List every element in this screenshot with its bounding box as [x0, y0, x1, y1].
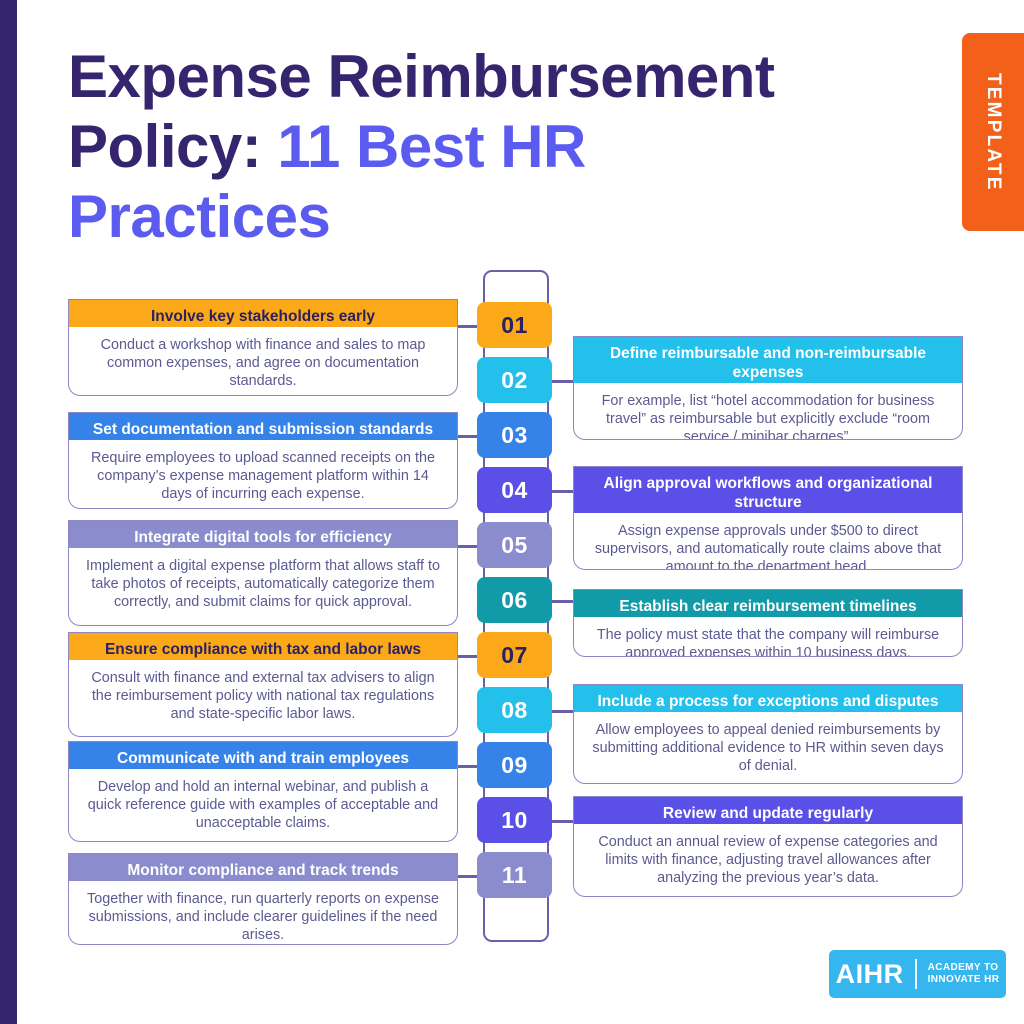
step-card-title: Align approval workflows and organizatio…: [574, 467, 962, 513]
step-number-badge[interactable]: 04: [477, 467, 552, 513]
step-card-body: Assign expense approvals under $500 to d…: [574, 513, 962, 570]
step-card-body: For example, list “hotel accommodation f…: [574, 383, 962, 440]
step-number-badge[interactable]: 09: [477, 742, 552, 788]
page-title: Expense Reimbursement Policy: 11 Best HR…: [68, 42, 908, 252]
step-card[interactable]: Ensure compliance with tax and labor law…: [68, 632, 458, 737]
step-card[interactable]: Set documentation and submission standar…: [68, 412, 458, 509]
template-tab[interactable]: TEMPLATE: [962, 33, 1024, 231]
step-card-body: Implement a digital expense platform tha…: [69, 548, 457, 621]
logo-wordmark: AIHR: [836, 959, 904, 990]
step-card-title: Involve key stakeholders early: [69, 300, 457, 327]
logo-tagline-line-2: INNOVATE HR: [928, 974, 1000, 987]
step-card-body: Consult with finance and external tax ad…: [69, 660, 457, 733]
step-connector: [456, 655, 479, 658]
logo-tagline: ACADEMY TO INNOVATE HR: [928, 962, 1000, 987]
step-card[interactable]: Involve key stakeholders earlyConduct a …: [68, 299, 458, 396]
template-tab-label: TEMPLATE: [982, 73, 1004, 192]
step-connector: [456, 545, 479, 548]
step-card-title: Set documentation and submission standar…: [69, 413, 457, 440]
step-connector: [456, 875, 479, 878]
step-card-body: Allow employees to appeal denied reimbur…: [574, 712, 962, 784]
step-number-badge[interactable]: 05: [477, 522, 552, 568]
step-card[interactable]: Define reimbursable and non-reimbursable…: [573, 336, 963, 440]
step-number-badge[interactable]: 06: [477, 577, 552, 623]
step-card-body: Together with finance, run quarterly rep…: [69, 881, 457, 945]
left-accent-bar: [0, 0, 17, 1024]
logo-tagline-line-1: ACADEMY TO: [928, 962, 1000, 975]
step-card-body: Conduct an annual review of expense cate…: [574, 824, 962, 897]
step-card[interactable]: Review and update regularlyConduct an an…: [573, 796, 963, 897]
step-number-badge[interactable]: 11: [477, 852, 552, 898]
step-card-title: Integrate digital tools for efficiency: [69, 521, 457, 548]
infographic-canvas: TEMPLATE Expense Reimbursement Policy: 1…: [0, 0, 1024, 1024]
step-card-body: Develop and hold an internal webinar, an…: [69, 769, 457, 842]
step-card-title: Define reimbursable and non-reimbursable…: [574, 337, 962, 383]
step-card-title: Review and update regularly: [574, 797, 962, 824]
step-number-badge[interactable]: 01: [477, 302, 552, 348]
step-connector: [456, 435, 479, 438]
step-card[interactable]: Monitor compliance and track trendsToget…: [68, 853, 458, 945]
step-card-body: The policy must state that the company w…: [574, 617, 962, 657]
step-card-title: Monitor compliance and track trends: [69, 854, 457, 881]
step-card-title: Establish clear reimbursement timelines: [574, 590, 962, 617]
step-card-title: Ensure compliance with tax and labor law…: [69, 633, 457, 660]
title-line-2: Policy: 11 Best HR: [68, 112, 908, 182]
step-card[interactable]: Align approval workflows and organizatio…: [573, 466, 963, 570]
step-connector: [456, 765, 479, 768]
step-card-title: Include a process for exceptions and dis…: [574, 685, 962, 712]
step-number-badge[interactable]: 08: [477, 687, 552, 733]
aihr-logo: AIHR ACADEMY TO INNOVATE HR: [829, 950, 1006, 998]
step-card[interactable]: Integrate digital tools for efficiencyIm…: [68, 520, 458, 626]
step-connector: [456, 325, 479, 328]
step-card[interactable]: Establish clear reimbursement timelinesT…: [573, 589, 963, 657]
step-card-body: Require employees to upload scanned rece…: [69, 440, 457, 509]
logo-divider: [915, 959, 917, 989]
step-card[interactable]: Communicate with and train employeesDeve…: [68, 741, 458, 842]
step-card-body: Conduct a workshop with finance and sale…: [69, 327, 457, 396]
step-card-title: Communicate with and train employees: [69, 742, 457, 769]
step-number-badge[interactable]: 03: [477, 412, 552, 458]
step-number-badge[interactable]: 10: [477, 797, 552, 843]
title-line-3: Practices: [68, 182, 908, 252]
step-number-badge[interactable]: 07: [477, 632, 552, 678]
step-number-badge[interactable]: 02: [477, 357, 552, 403]
title-line-1: Expense Reimbursement: [68, 42, 908, 112]
step-card[interactable]: Include a process for exceptions and dis…: [573, 684, 963, 784]
